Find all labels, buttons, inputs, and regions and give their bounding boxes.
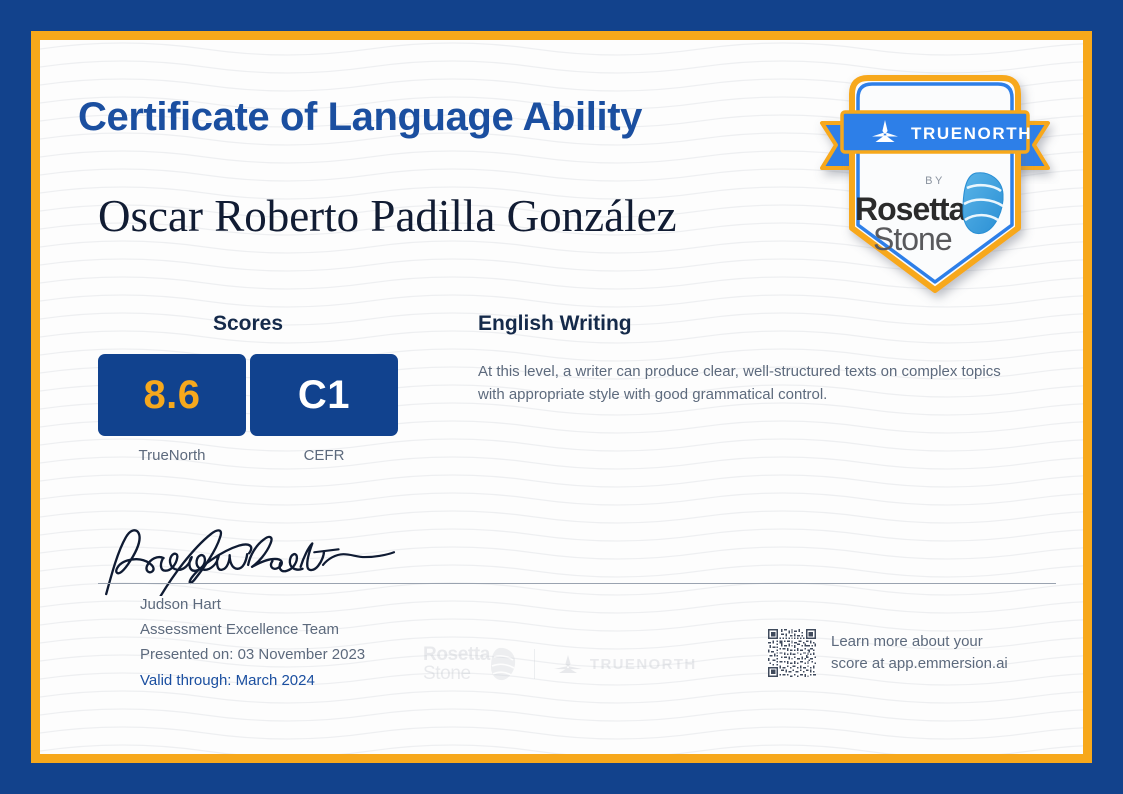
signature-rule [98, 583, 1056, 584]
presented-on-date: Presented on: 03 November 2023 [140, 642, 365, 667]
signatory-team: Assessment Excellence Team [140, 617, 365, 642]
qr-caption-line1: Learn more about your [831, 631, 1008, 653]
score-value-truenorth: 8.6 [143, 373, 200, 418]
skill-description: At this level, a writer can produce clea… [478, 360, 1023, 407]
certificate-gold-frame: Certificate of Language Ability Oscar Ro… [31, 31, 1092, 763]
scores-heading: Scores [98, 312, 398, 336]
badge-by-text: BY [925, 175, 945, 187]
score-box-truenorth: 8.6 [98, 354, 246, 436]
score-item-truenorth: 8.6 TrueNorth [98, 354, 246, 464]
footer-rosetta-stone-logo: Rosetta Stone [423, 645, 490, 683]
score-item-cefr: C1 CEFR [250, 354, 398, 464]
footer-stone-icon [490, 647, 516, 681]
qr-caption-line2: score at app.emmersion.ai [831, 653, 1008, 675]
score-label-truenorth: TrueNorth [98, 447, 246, 464]
badge-brand-line2: Stone [873, 221, 952, 257]
score-box-cefr: C1 [250, 354, 398, 436]
score-label-cefr: CEFR [250, 447, 398, 464]
footer-logos: Rosetta Stone [423, 645, 697, 683]
footer-truenorth-logo: TRUENORTH [553, 654, 697, 674]
skill-section: English Writing At this level, a writer … [478, 312, 1038, 407]
footer-rosetta-line2: Stone [423, 664, 490, 683]
signature-mark [98, 526, 408, 596]
footer-logo-divider [534, 649, 535, 679]
badge-ribbon-band: TRUENORTH [842, 112, 1032, 152]
footer-truenorth-text: TRUENORTH [590, 656, 697, 673]
qr-caption: Learn more about your score at app.emmer… [831, 631, 1008, 675]
qr-section[interactable]: Learn more about your score at app.emmer… [768, 629, 1008, 677]
signature-details: Judson Hart Assessment Excellence Team P… [140, 592, 365, 693]
skill-title: English Writing [478, 312, 1038, 336]
recipient-name: Oscar Roberto Padilla González [98, 190, 718, 243]
certificate-canvas: Certificate of Language Ability Oscar Ro… [40, 40, 1083, 754]
scores-section: Scores 8.6 TrueNorth C1 CEFR [98, 312, 398, 464]
truenorth-rosetta-badge: TRUENORTH BY Rosetta Stone [810, 68, 1060, 306]
signatory-name: Judson Hart [140, 592, 365, 617]
page-title: Certificate of Language Ability [78, 95, 642, 140]
compass-star-icon [553, 654, 583, 674]
badge-ribbon-text: TRUENORTH [911, 124, 1032, 143]
score-box-group: 8.6 TrueNorth C1 CEFR [98, 354, 398, 464]
score-value-cefr: C1 [298, 373, 350, 418]
valid-through-date: Valid through: March 2024 [140, 668, 365, 693]
qr-code-icon[interactable] [768, 629, 816, 677]
footer-rosetta-line1: Rosetta [423, 645, 490, 664]
certificate-outer-frame: Certificate of Language Ability Oscar Ro… [0, 0, 1123, 794]
